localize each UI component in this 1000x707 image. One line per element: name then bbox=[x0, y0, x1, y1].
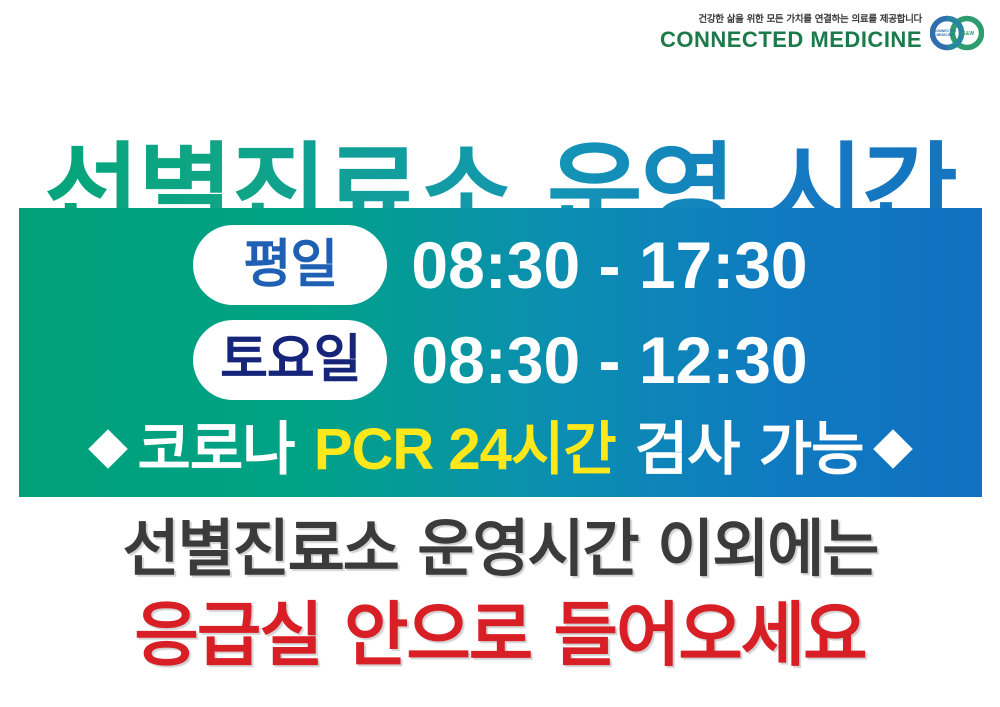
brand-text-block: 건강한 삶을 위한 모든 가치를 연결하는 의료를 제공합니다 CONNECTE… bbox=[660, 15, 922, 52]
hours-row-weekday: 평일 08:30 - 17:30 bbox=[19, 222, 982, 308]
diamond-icon-right bbox=[874, 429, 914, 469]
day-badge-weekday-label: 평일 bbox=[244, 239, 338, 291]
brand-name: CONNECTED MEDICINE bbox=[660, 29, 922, 51]
svg-text:MEDICINE: MEDICINE bbox=[936, 33, 954, 37]
connected-rings-logo-icon: CONNECTED MEDICINE G&W bbox=[930, 10, 984, 56]
hours-row-saturday: 토요일 08:30 - 12:30 bbox=[19, 317, 982, 403]
brand-tagline: 건강한 삶을 위한 모든 가치를 연결하는 의료를 제공합니다 bbox=[698, 15, 922, 25]
hours-time-weekday: 08:30 - 17:30 bbox=[411, 232, 807, 298]
notice-line-1: 선별진료소 운영시간 이외에는 bbox=[0, 518, 1000, 580]
svg-text:CONNECTED: CONNECTED bbox=[934, 29, 957, 33]
brand-header: 건강한 삶을 위한 모든 가치를 연결하는 의료를 제공합니다 CONNECTE… bbox=[660, 10, 984, 56]
pcr-highlight: PCR 24시간 bbox=[314, 417, 616, 482]
svg-text:G&W: G&W bbox=[962, 31, 975, 37]
hours-time-saturday: 08:30 - 12:30 bbox=[411, 327, 807, 393]
pcr-notice-text: 코로나 PCR 24시간 검사 가능 bbox=[138, 420, 864, 479]
diamond-icon-left bbox=[88, 429, 128, 469]
day-badge-saturday-label: 토요일 bbox=[220, 334, 361, 386]
day-badge-saturday: 토요일 bbox=[193, 320, 387, 400]
pcr-suffix: 검사 가능 bbox=[616, 415, 864, 483]
operating-hours-panel: 평일 08:30 - 17:30 토요일 08:30 - 12:30 코로나 P… bbox=[19, 208, 982, 497]
day-badge-weekday: 평일 bbox=[193, 225, 387, 305]
pcr-notice-row: 코로나 PCR 24시간 검사 가능 bbox=[19, 411, 982, 487]
notice-line-2: 응급실 안으로 들어오세요 bbox=[0, 600, 1000, 670]
pcr-prefix: 코로나 bbox=[138, 415, 314, 483]
poster-root: 건강한 삶을 위한 모든 가치를 연결하는 의료를 제공합니다 CONNECTE… bbox=[0, 0, 1000, 707]
